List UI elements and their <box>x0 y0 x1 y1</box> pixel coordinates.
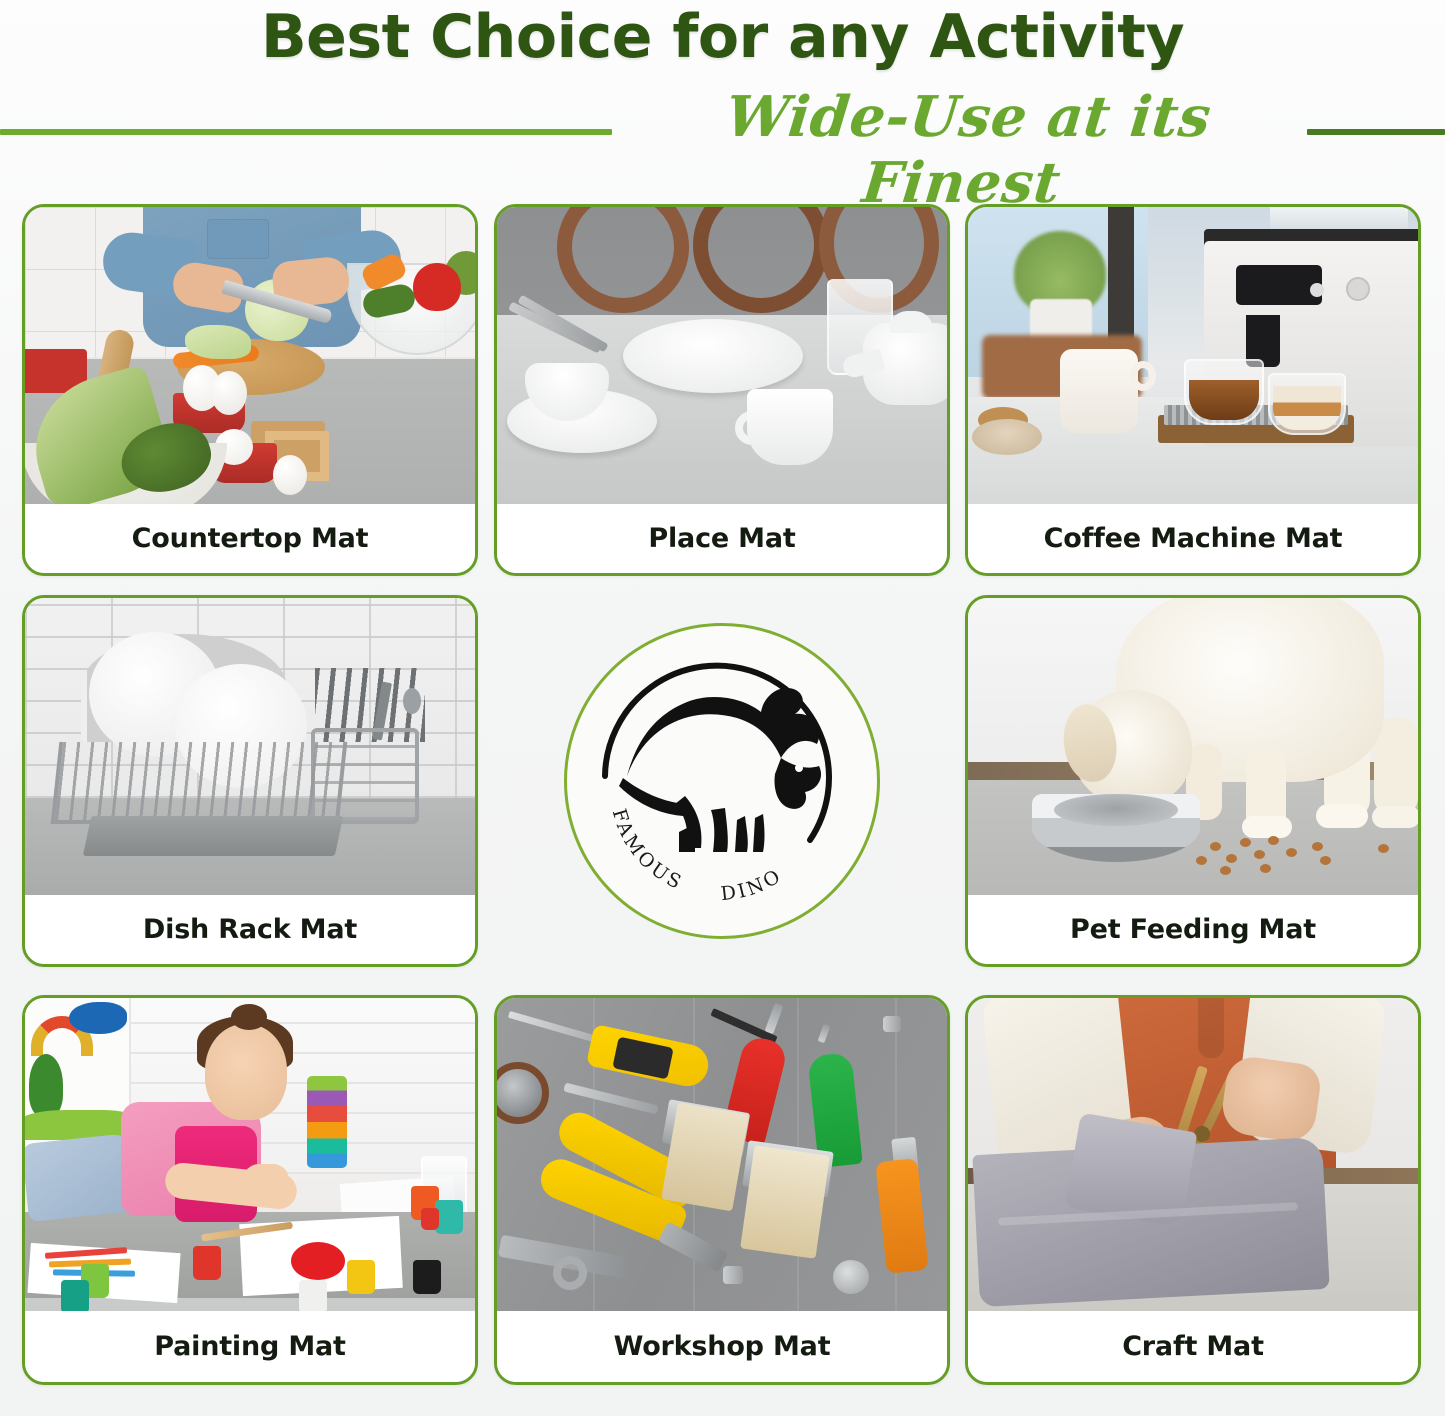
card-label-workshop-mat: Workshop Mat <box>497 1311 947 1382</box>
card-image-place-mat <box>497 207 947 504</box>
card-label-coffee-machine-mat: Coffee Machine Mat <box>968 504 1418 573</box>
card-label-countertop-mat: Countertop Mat <box>25 504 475 573</box>
logo-text-dino: DINO <box>720 864 787 905</box>
card-image-pet-feeding-mat <box>968 598 1418 895</box>
product-use-grid: Countertop Mat Place Mat <box>22 204 1424 1390</box>
card-pet-feeding-mat[interactable]: Pet Feeding Mat <box>965 595 1421 967</box>
divider-right <box>1307 129 1445 135</box>
infographic-page: Best Choice for any Activity Wide-Use at… <box>0 0 1445 1416</box>
card-workshop-mat[interactable]: Workshop Mat <box>494 995 950 1385</box>
svg-text:FAMOUS: FAMOUS <box>608 806 687 894</box>
card-label-painting-mat: Painting Mat <box>25 1311 475 1382</box>
header: Best Choice for any Activity Wide-Use at… <box>0 0 1445 190</box>
brand-logo: FAMOUS DINO <box>494 595 950 967</box>
card-image-painting-mat <box>25 998 475 1311</box>
card-label-craft-mat: Craft Mat <box>968 1311 1418 1382</box>
page-title: Best Choice for any Activity <box>0 2 1445 72</box>
card-image-dish-rack-mat <box>25 598 475 895</box>
logo-circle: FAMOUS DINO <box>564 623 880 939</box>
card-painting-mat[interactable]: Painting Mat <box>22 995 478 1385</box>
card-place-mat[interactable]: Place Mat <box>494 204 950 576</box>
logo-text-famous: FAMOUS <box>608 806 687 894</box>
card-dish-rack-mat[interactable]: Dish Rack Mat <box>22 595 478 967</box>
divider-left <box>0 129 612 135</box>
card-label-pet-feeding-mat: Pet Feeding Mat <box>968 895 1418 964</box>
card-label-dish-rack-mat: Dish Rack Mat <box>25 895 475 964</box>
card-craft-mat[interactable]: Craft Mat <box>965 995 1421 1385</box>
card-image-coffee-machine-mat <box>968 207 1418 504</box>
card-image-craft-mat <box>968 998 1418 1311</box>
card-coffee-machine-mat[interactable]: Coffee Machine Mat <box>965 204 1421 576</box>
triceratops-dino-icon: FAMOUS DINO <box>567 626 877 936</box>
subtitle-row: Wide-Use at its Finest <box>0 88 1445 170</box>
card-countertop-mat[interactable]: Countertop Mat <box>22 204 478 576</box>
page-subtitle: Wide-Use at its Finest <box>613 84 1317 216</box>
card-image-workshop-mat <box>497 998 947 1311</box>
card-label-place-mat: Place Mat <box>497 504 947 573</box>
svg-text:DINO: DINO <box>720 864 787 905</box>
card-image-countertop-mat <box>25 207 475 504</box>
